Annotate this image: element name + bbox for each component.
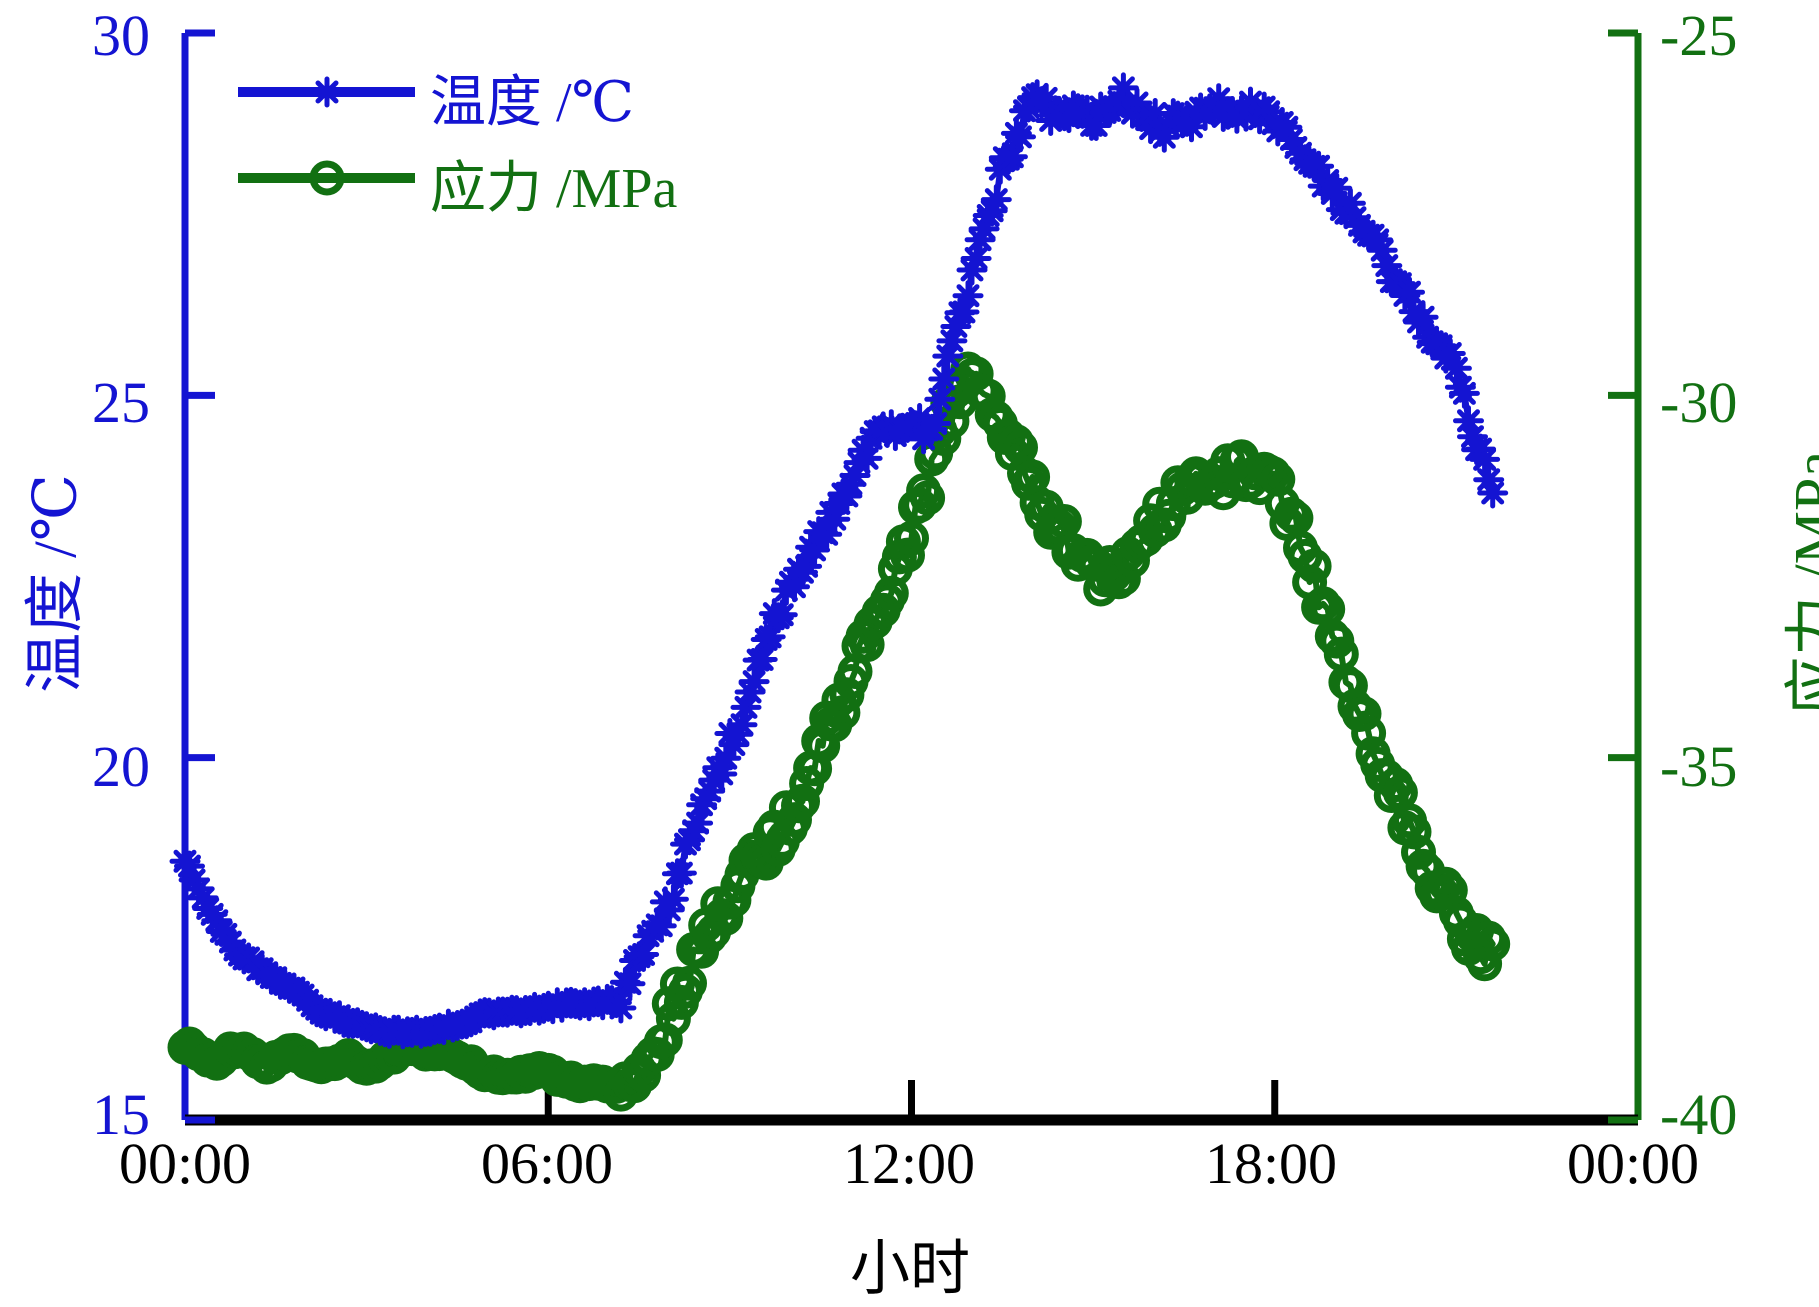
legend-label-stress: 应力 /MPa [430,143,677,224]
y-left-tick-30: 30 [0,2,150,69]
x-tick-0000-start: 00:00 [55,1130,315,1197]
y-axis-left-ticks [185,33,215,1120]
y-right-tick-neg25: -25 [1660,2,1737,69]
y-axis-right-title: 应力 /MPa [1767,384,1819,784]
x-tick-0000-end: 00:00 [1503,1130,1763,1197]
legend-label-temperature: 温度 /℃ [430,57,634,138]
y-axis-right-ticks [1608,33,1638,1120]
axis-spines [185,33,1638,1120]
series-stress-line [171,355,1507,1108]
chart-plot-svg [0,0,1819,1299]
x-tick-1200: 12:00 [779,1130,1039,1197]
x-tick-0600: 06:00 [417,1130,677,1197]
y-axis-left-title: 温度 /℃ [7,384,94,784]
x-axis-title: 小时 [760,1220,1060,1307]
y-right-tick-neg35: -35 [1660,733,1737,800]
y-right-tick-neg30: -30 [1660,369,1737,436]
chart-figure: 温度 /℃ 应力 /MPa 30 25 20 15 -25 -30 -35 -4… [0,0,1819,1299]
legend-swatches [238,79,415,192]
x-tick-1800: 18:00 [1141,1130,1401,1197]
